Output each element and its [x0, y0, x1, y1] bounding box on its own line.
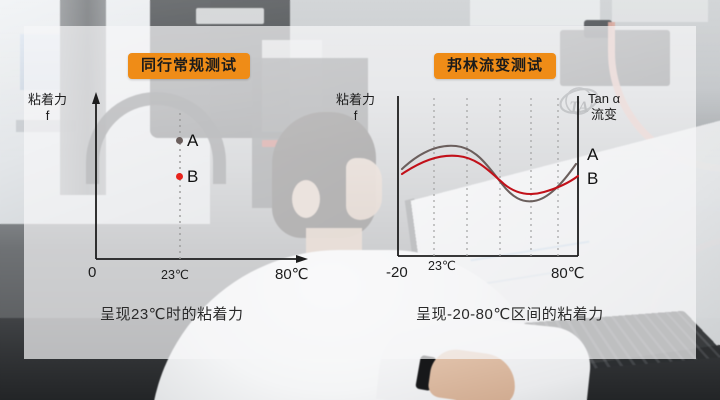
left-chart-point-b-dot [176, 173, 183, 180]
caption-peer-standard-test: 呈现23℃时的粘着力 [100, 303, 244, 324]
right-chart-series-a-label: A [587, 146, 598, 163]
left-chart-point-a-label: A [187, 132, 198, 149]
right-chart-xtick-23c: 23℃ [428, 258, 456, 273]
chart-peer-standard-test: 粘着力 f A B 0 23℃ 80℃ [26, 84, 326, 274]
left-chart-y-axis-label: 粘着力 f [28, 92, 67, 125]
badge-banglin-rheology-test: 邦林流变测试 [434, 53, 556, 79]
right-chart-secondary-y-axis-label: Tan α 流变 [588, 91, 620, 124]
left-chart-axes-svg [26, 84, 326, 274]
right-chart-y-axis-label: 粘着力 f [336, 92, 375, 125]
right-chart-series-b-label: B [587, 170, 598, 187]
left-chart-xtick-23c: 23℃ [161, 267, 189, 282]
right-chart-xtick-80c: 80℃ [551, 264, 585, 282]
left-chart-xtick-0: 0 [88, 264, 96, 281]
right-chart-xtick-minus20: -20 [386, 264, 408, 281]
left-chart-point-b-label: B [187, 168, 198, 185]
left-chart-point-a-dot [176, 137, 183, 144]
chart-banglin-rheology-test: 粘着力 f Tan α 流变 [336, 84, 666, 274]
caption-banglin-rheology-test: 呈现-20-80℃区间的粘着力 [416, 303, 604, 324]
left-chart-xtick-80c: 80℃ [275, 265, 309, 283]
infographic-stage: TA 同行常规测试 邦林流变测试 粘着力 f A B 0 23℃ 80℃ [0, 0, 720, 400]
badge-peer-standard-test: 同行常规测试 [128, 53, 250, 79]
